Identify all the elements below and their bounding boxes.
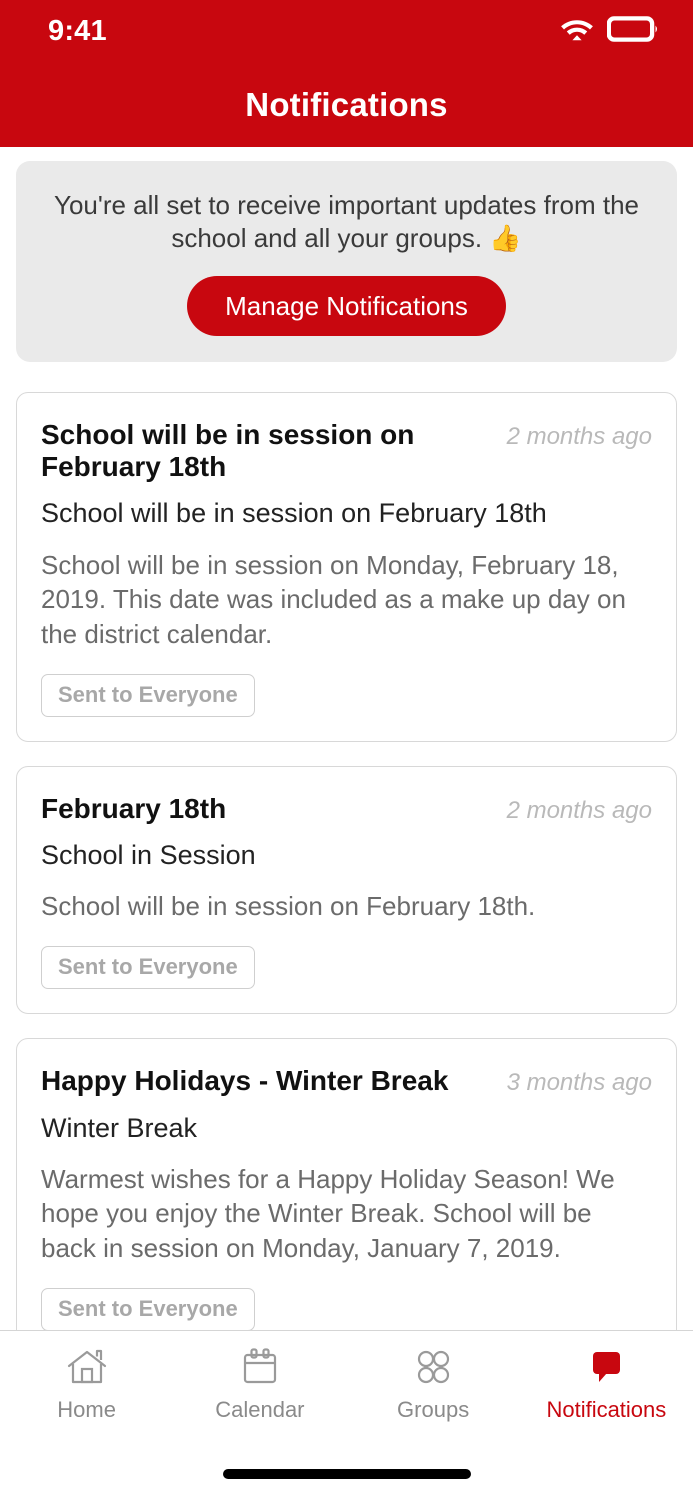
groups-icon	[411, 1345, 455, 1389]
home-indicator-area	[0, 1448, 693, 1500]
notification-body: School will be in session on February 18…	[41, 889, 652, 924]
tab-notifications[interactable]: Notifications	[520, 1345, 693, 1423]
notifications-scroll-area[interactable]: You're all set to receive important upda…	[0, 147, 693, 1330]
manage-notifications-button[interactable]: Manage Notifications	[187, 276, 506, 336]
tab-label-calendar: Calendar	[215, 1397, 304, 1423]
tab-label-home: Home	[57, 1397, 116, 1423]
notification-title: February 18th	[41, 793, 456, 825]
notification-header: Happy Holidays - Winter Break 3 months a…	[41, 1065, 652, 1097]
wifi-icon	[560, 16, 594, 47]
notification-subtitle: School in Session	[41, 839, 652, 871]
notification-title: Happy Holidays - Winter Break	[41, 1065, 456, 1097]
notification-timestamp: 2 months ago	[507, 419, 652, 451]
status-bar-time: 9:41	[48, 15, 107, 48]
bottom-tab-bar: Home Calendar	[0, 1330, 693, 1448]
battery-icon	[607, 16, 659, 47]
notification-body: School will be in session on Monday, Feb…	[41, 548, 652, 652]
notification-card[interactable]: Happy Holidays - Winter Break 3 months a…	[16, 1038, 677, 1330]
speech-bubble-icon	[584, 1345, 628, 1389]
app-header: 9:41 Notifications	[0, 0, 693, 147]
notification-timestamp: 2 months ago	[507, 793, 652, 825]
tab-label-groups: Groups	[397, 1397, 469, 1423]
home-icon	[65, 1345, 109, 1389]
tab-calendar[interactable]: Calendar	[173, 1345, 346, 1423]
notification-status-banner: You're all set to receive important upda…	[16, 161, 677, 362]
notification-audience-badge: Sent to Everyone	[41, 1288, 255, 1330]
status-bar-indicators	[560, 16, 659, 47]
notification-audience-badge: Sent to Everyone	[41, 674, 255, 717]
status-bar: 9:41	[0, 0, 693, 62]
app-screen: 9:41 Notifications	[0, 0, 693, 1500]
tab-home[interactable]: Home	[0, 1345, 173, 1423]
notification-subtitle: Winter Break	[41, 1112, 652, 1144]
notification-card[interactable]: School will be in session on February 18…	[16, 392, 677, 742]
home-indicator[interactable]	[223, 1469, 471, 1479]
notification-body: Warmest wishes for a Happy Holiday Seaso…	[41, 1162, 652, 1266]
notification-audience-badge: Sent to Everyone	[41, 946, 255, 989]
notification-card[interactable]: February 18th 2 months ago School in Ses…	[16, 766, 677, 1014]
notification-timestamp: 3 months ago	[507, 1065, 652, 1097]
notification-subtitle: School will be in session on February 18…	[41, 497, 652, 529]
tab-groups[interactable]: Groups	[347, 1345, 520, 1423]
notification-list: School will be in session on February 18…	[0, 362, 693, 1330]
notification-status-message: You're all set to receive important upda…	[38, 189, 655, 256]
calendar-icon	[239, 1345, 281, 1389]
tab-label-notifications: Notifications	[546, 1397, 666, 1423]
notification-header: February 18th 2 months ago	[41, 793, 652, 825]
notification-title: School will be in session on February 18…	[41, 419, 456, 484]
page-title: Notifications	[0, 86, 693, 124]
notification-header: School will be in session on February 18…	[41, 419, 652, 484]
